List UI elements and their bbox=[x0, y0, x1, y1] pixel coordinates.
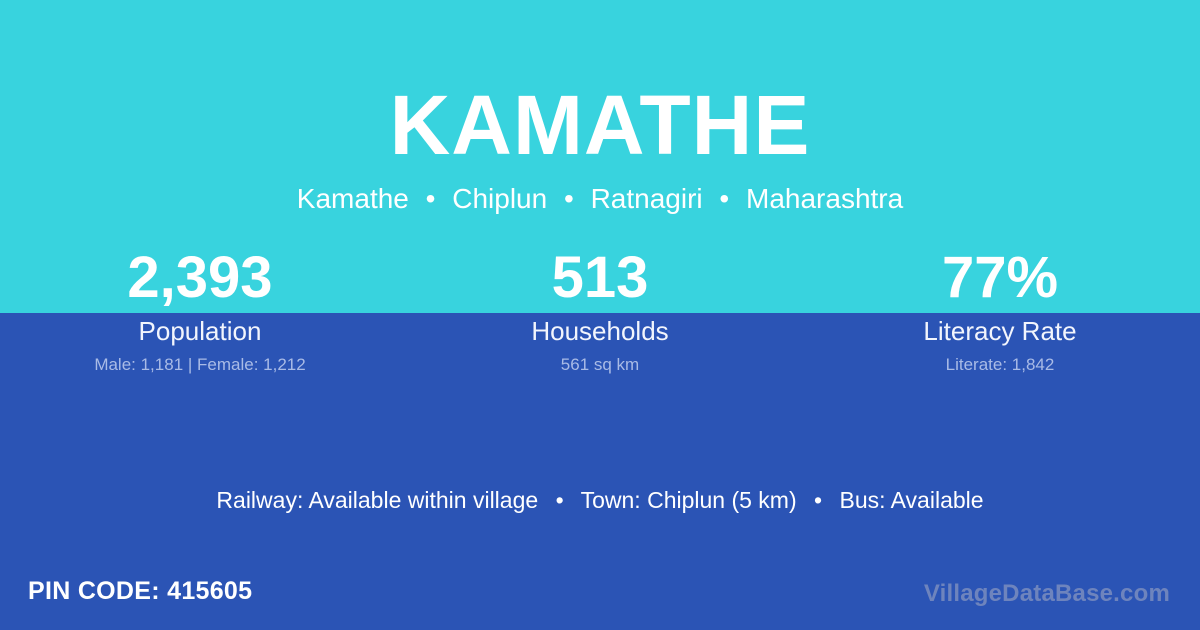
stat-label: Households bbox=[400, 315, 800, 347]
stat-value: 513 bbox=[400, 244, 800, 312]
breadcrumb-separator-icon: • bbox=[710, 181, 738, 217]
amenities-line: Railway: Available within village • Town… bbox=[0, 484, 1200, 516]
breadcrumb-item-district: Ratnagiri bbox=[591, 183, 703, 214]
village-info-card: KAMATHE Kamathe • Chiplun • Ratnagiri • … bbox=[0, 0, 1200, 630]
breadcrumb-item-state: Maharashtra bbox=[746, 183, 903, 214]
stat-sublabel: Male: 1,181 | Female: 1,212 bbox=[0, 354, 400, 376]
page-title: KAMATHE bbox=[0, 77, 1200, 173]
breadcrumb-separator-icon: • bbox=[417, 181, 445, 217]
stat-literacy-rate: 77% Literacy Rate Literate: 1,842 bbox=[800, 244, 1200, 376]
pin-code: PIN CODE: 415605 bbox=[28, 574, 252, 608]
stat-value: 2,393 bbox=[0, 244, 400, 312]
breadcrumb-separator-icon: • bbox=[555, 181, 583, 217]
amenity-separator-icon: • bbox=[545, 484, 575, 516]
breadcrumb-item-village: Kamathe bbox=[297, 183, 409, 214]
breadcrumb: Kamathe • Chiplun • Ratnagiri • Maharash… bbox=[0, 181, 1200, 217]
stat-label: Population bbox=[0, 315, 400, 347]
amenity-separator-icon: • bbox=[803, 484, 833, 516]
amenity-town: Town: Chiplun (5 km) bbox=[581, 487, 797, 513]
amenity-railway: Railway: Available within village bbox=[216, 487, 538, 513]
site-branding: VillageDataBase.com bbox=[924, 578, 1170, 610]
stat-population: 2,393 Population Male: 1,181 | Female: 1… bbox=[0, 244, 400, 376]
breadcrumb-item-block: Chiplun bbox=[452, 183, 547, 214]
stats-row: 2,393 Population Male: 1,181 | Female: 1… bbox=[0, 244, 1200, 376]
stat-value: 77% bbox=[800, 244, 1200, 312]
stat-label: Literacy Rate bbox=[800, 315, 1200, 347]
stat-sublabel: 561 sq km bbox=[400, 354, 800, 376]
stat-households: 513 Households 561 sq km bbox=[400, 244, 800, 376]
amenity-bus: Bus: Available bbox=[839, 487, 983, 513]
stat-sublabel: Literate: 1,842 bbox=[800, 354, 1200, 376]
